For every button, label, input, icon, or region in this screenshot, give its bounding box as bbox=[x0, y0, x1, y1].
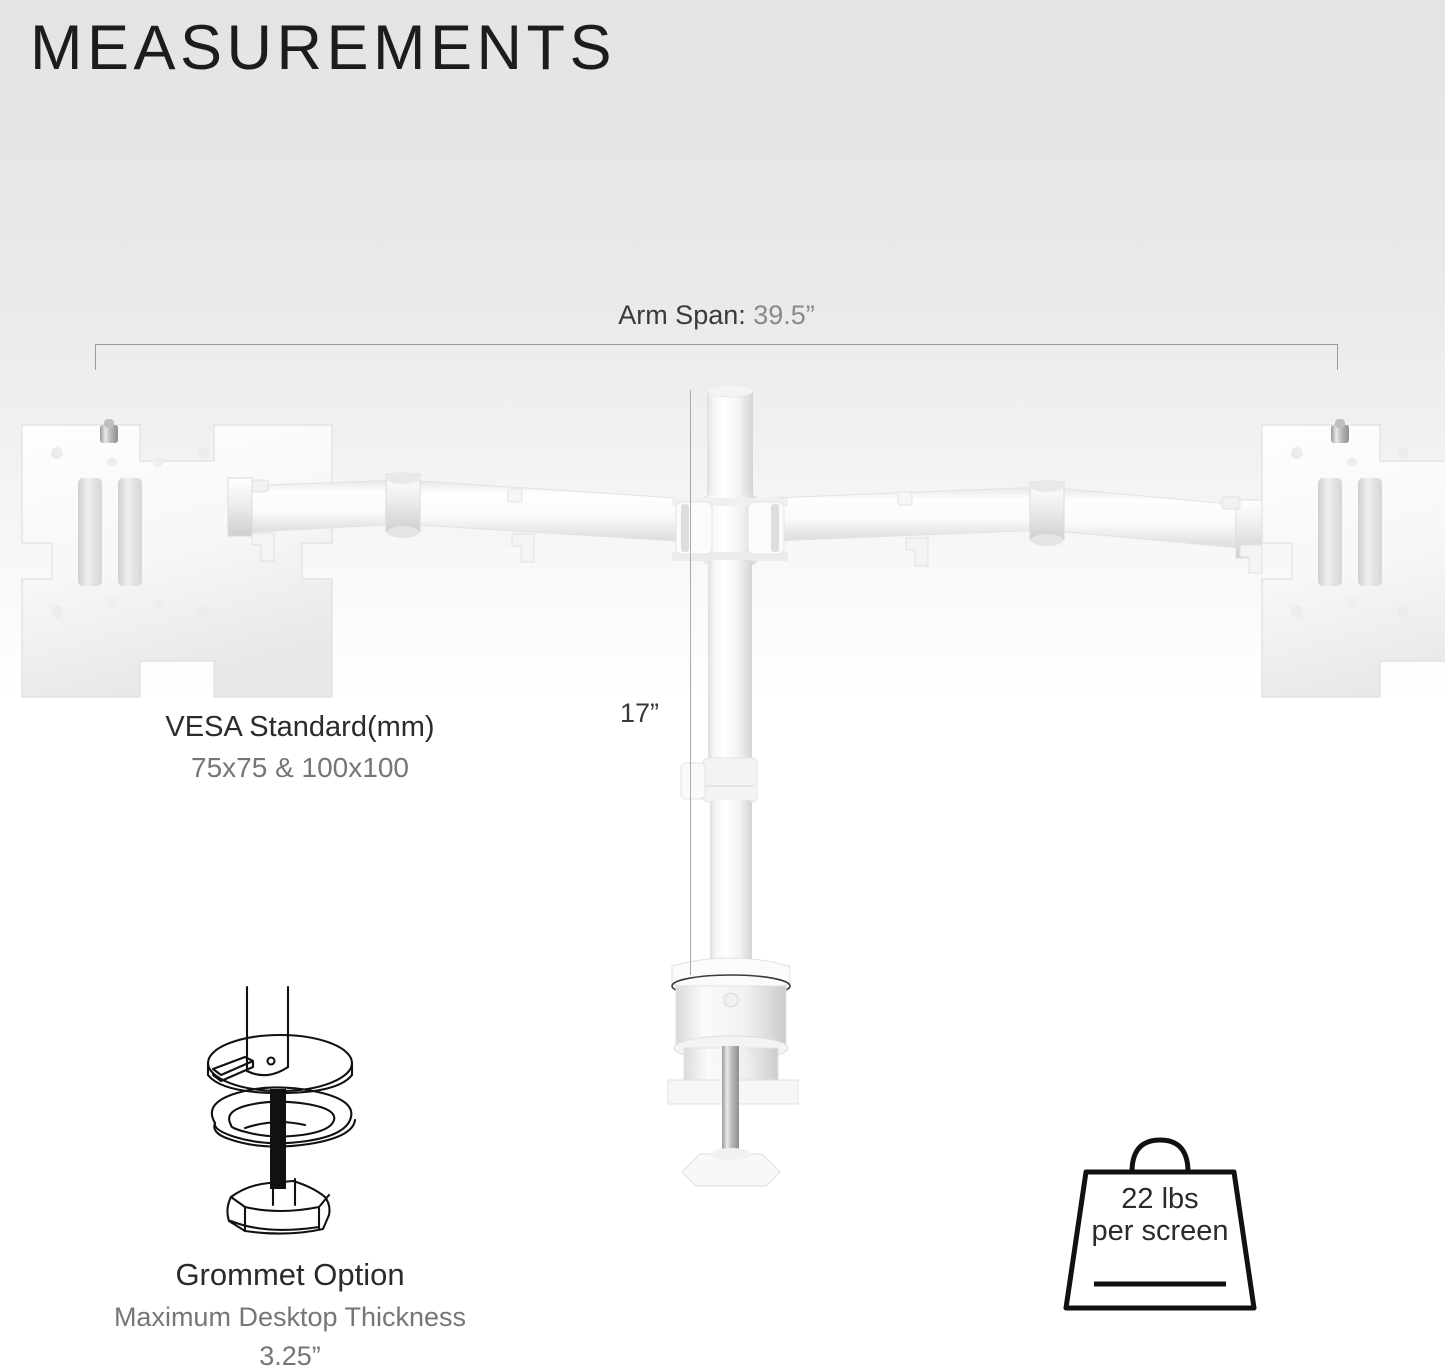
grommet-option-illustration bbox=[185, 985, 385, 1250]
weight-capacity-text: 22 lbs per screen bbox=[1058, 1183, 1262, 1248]
arm-span-value: 39.5” bbox=[753, 300, 815, 330]
arm-span-dimension-line bbox=[95, 344, 1338, 345]
arm-span-caption: Arm Span: bbox=[618, 300, 753, 330]
vesa-plate-right bbox=[1262, 419, 1445, 697]
weight-per-screen: per screen bbox=[1058, 1215, 1262, 1247]
vesa-title: VESA Standard(mm) bbox=[40, 706, 560, 748]
arm-span-label: Arm Span: 39.5” bbox=[95, 300, 1338, 331]
height-dimension-line bbox=[690, 390, 691, 975]
grommet-thickness-label: Maximum Desktop Thickness bbox=[20, 1298, 560, 1337]
arm-span-tick-left bbox=[95, 344, 96, 370]
vesa-plate-left bbox=[22, 419, 332, 697]
desk-clamp bbox=[668, 958, 798, 1186]
height-value: 17” bbox=[620, 698, 659, 729]
grommet-bolt bbox=[270, 1089, 286, 1189]
arm-right bbox=[772, 480, 1262, 573]
grommet-option-block: Grommet Option Maximum Desktop Thickness… bbox=[20, 1253, 560, 1371]
weight-value: 22 lbs bbox=[1058, 1183, 1262, 1215]
vesa-standard-block: VESA Standard(mm) 75x75 & 100x100 bbox=[40, 706, 560, 789]
page-title: MEASUREMENTS bbox=[30, 17, 616, 80]
vesa-sizes: 75x75 & 100x100 bbox=[40, 748, 560, 789]
arm-span-tick-right bbox=[1337, 344, 1338, 370]
grommet-thickness-value: 3.25” bbox=[20, 1337, 560, 1371]
measurements-diagram: MEASUREMENTS Arm Span: 39.5” 17” VESA St… bbox=[0, 0, 1445, 1371]
grommet-title: Grommet Option bbox=[20, 1253, 560, 1298]
